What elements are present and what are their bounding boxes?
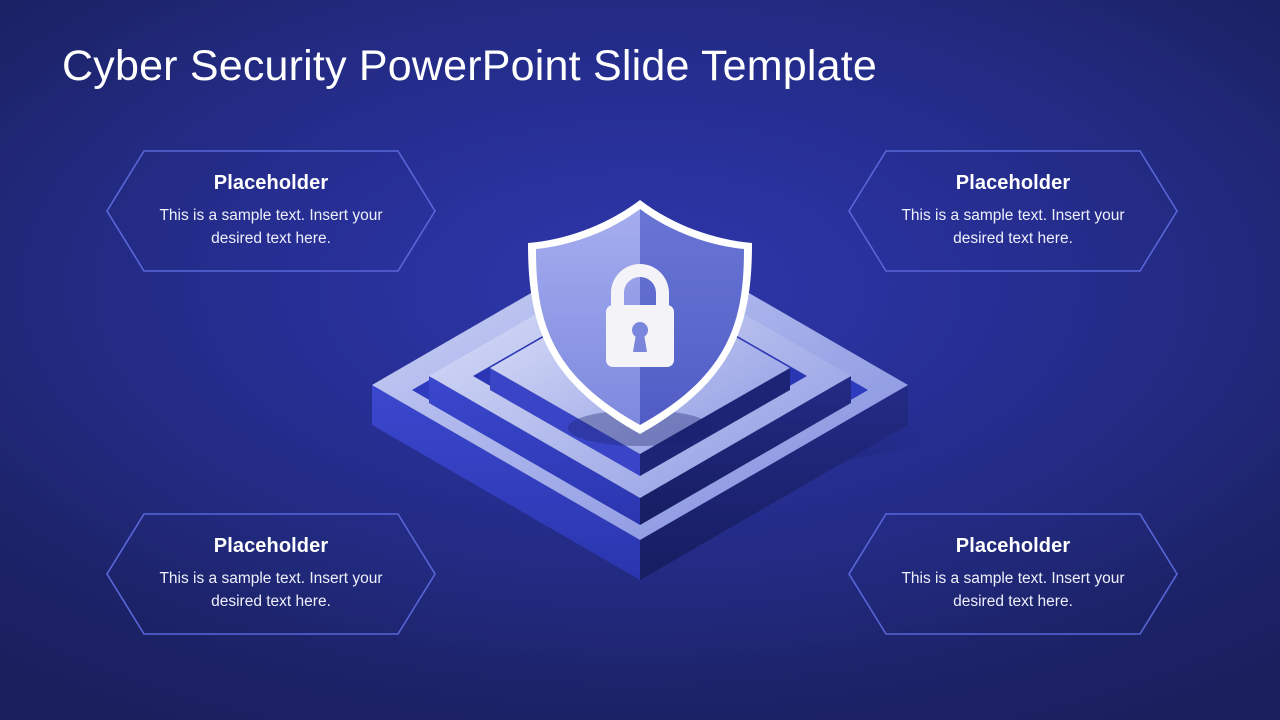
callout-body: This is a sample text. Insert your desir… (893, 204, 1133, 251)
callout-top-right[interactable]: Placeholder This is a sample text. Inser… (848, 150, 1178, 272)
slide-canvas: Cyber Security PowerPoint Slide Template (0, 0, 1280, 720)
page-title: Cyber Security PowerPoint Slide Template (62, 42, 877, 91)
callout-bottom-right[interactable]: Placeholder This is a sample text. Inser… (848, 513, 1178, 635)
callout-heading: Placeholder (956, 172, 1070, 195)
callout-heading: Placeholder (214, 535, 328, 558)
callout-body: This is a sample text. Insert your desir… (151, 204, 391, 251)
callout-heading: Placeholder (956, 535, 1070, 558)
callout-body: This is a sample text. Insert your desir… (893, 567, 1133, 614)
callout-top-left[interactable]: Placeholder This is a sample text. Inser… (106, 150, 436, 272)
callout-heading: Placeholder (214, 172, 328, 195)
callout-body: This is a sample text. Insert your desir… (151, 567, 391, 614)
callout-bottom-left[interactable]: Placeholder This is a sample text. Inser… (106, 513, 436, 635)
